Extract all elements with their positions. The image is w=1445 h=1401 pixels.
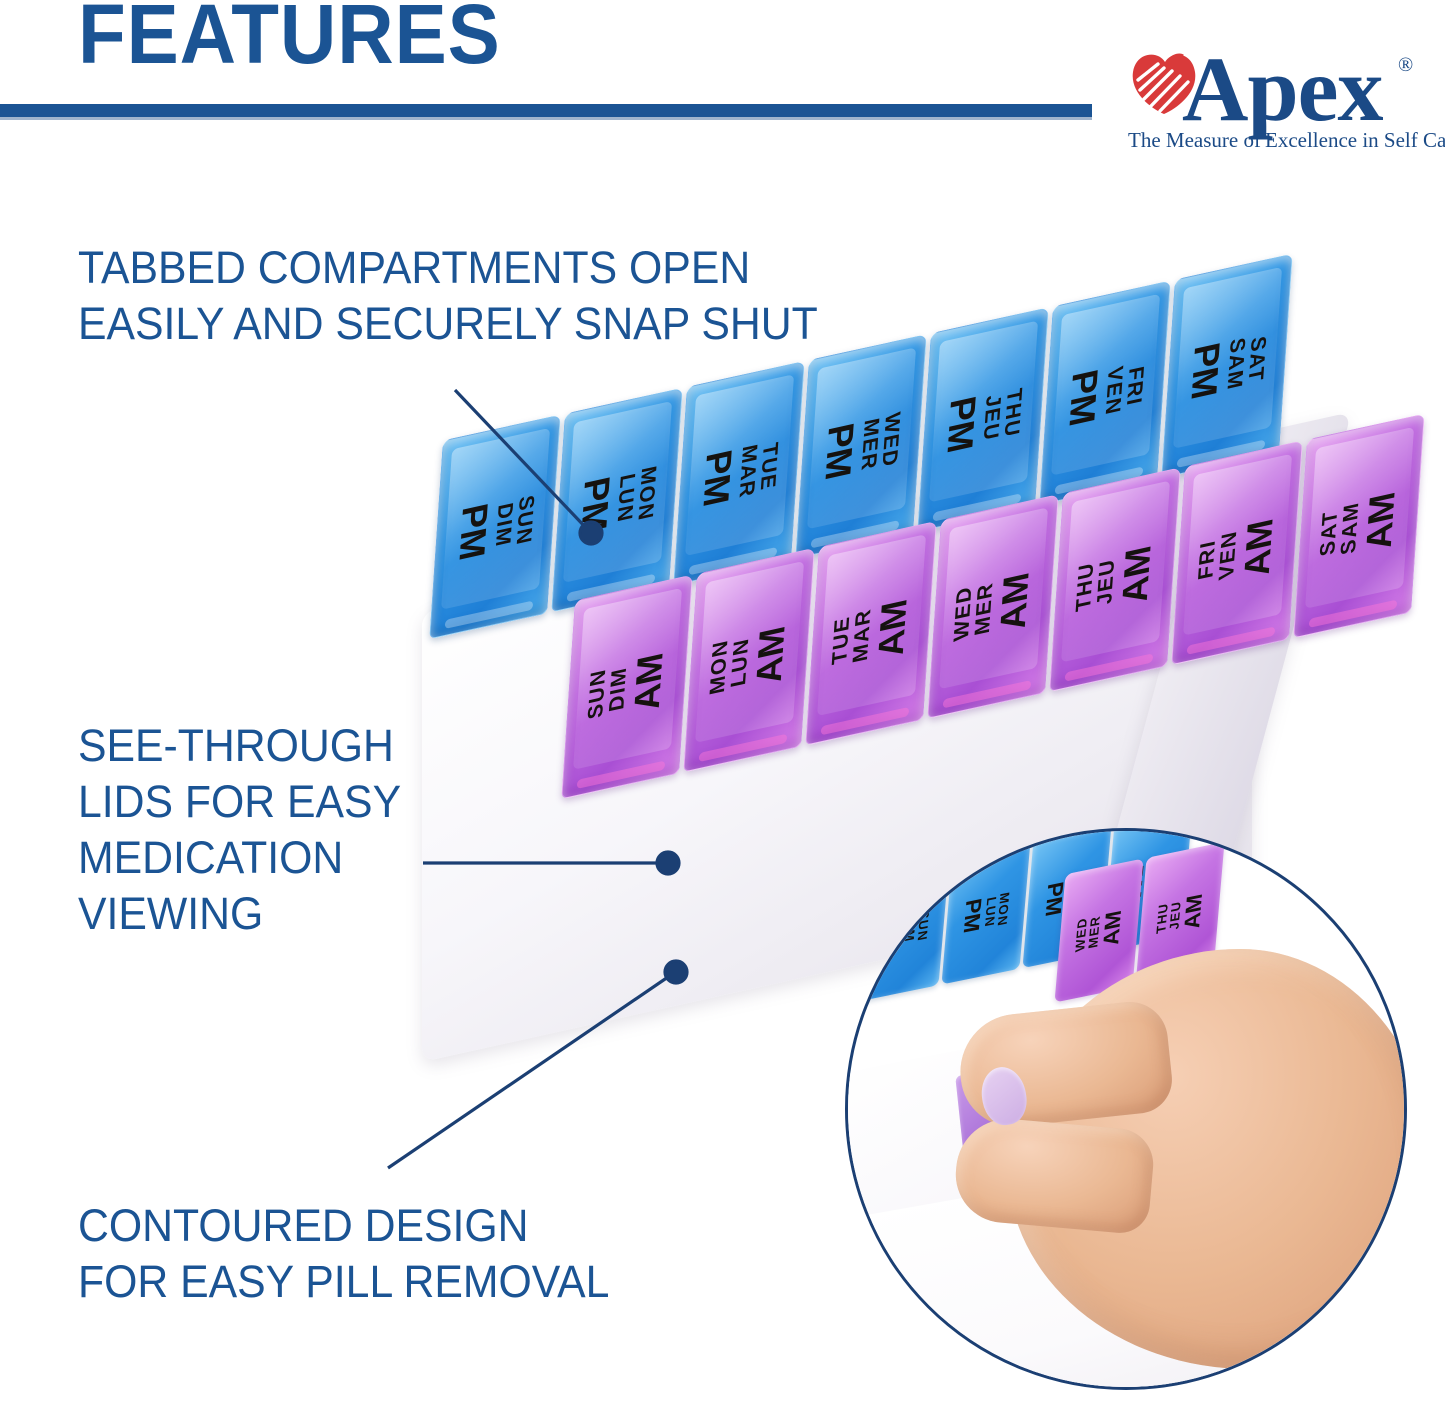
inset-compartment-mon-pm[interactable]: MONLUNPM [941,840,1030,984]
apex-logo: Apex ® The Measure of Excellence in Self… [1124,44,1424,156]
page-title: FEATURES [78,0,501,83]
compartment-fri-am[interactable]: FRIVENAM [1171,440,1303,665]
compartment-thu-am[interactable]: THUJEUAM [1049,467,1181,692]
logo-tagline-right: Excellence in Self Care [1265,128,1445,153]
callout-see-through-lids: SEE-THROUGH LIDS FOR EASY MEDICATION VIE… [78,718,401,942]
compartment-wed-pm[interactable]: WEDMERPM [795,334,927,559]
logo-tagline-left: The Measure of [1128,128,1261,153]
compartment-sat-pm[interactable]: SATSAMPM [1161,253,1293,478]
registered-trademark-icon: ® [1398,54,1413,77]
compartment-mon-pm[interactable]: MONLUNPM [551,388,683,613]
compartment-wed-am[interactable]: WEDMERAM [927,494,1059,719]
feature-infographic: FEATURES Apex ® The Measure of Excellenc… [0,0,1445,1401]
compartment-fri-pm[interactable]: FRIVENPM [1039,280,1171,505]
inset-scene: SUNDIMPM MONLUNPM TUEMARPM WEDMERPM WEDM… [848,831,1407,1390]
compartment-sat-am[interactable]: SATSAMAM [1293,413,1425,638]
compartment-tue-am[interactable]: TUEMARAM [805,521,937,746]
header-divider [0,104,1092,117]
compartment-tue-pm[interactable]: TUEMARPM [673,361,805,586]
header-divider-shadow [0,117,1092,120]
compartment-sun-pm[interactable]: SUNDIMPM [429,414,561,639]
callout-contoured-design: CONTOURED DESIGN FOR EASY PILL REMOVAL [78,1198,609,1310]
inset-photo-pill-removal: SUNDIMPM MONLUNPM TUEMARPM WEDMERPM WEDM… [845,828,1407,1390]
compartment-thu-pm[interactable]: THUJEUPM [917,307,1049,532]
compartment-sun-am[interactable]: SUNDIMAM [561,574,693,799]
logo-wordmark: Apex [1182,36,1382,142]
thumb [952,1115,1156,1236]
inset-compartment-sun-pm[interactable]: SUNDIMPM [860,857,949,1001]
compartment-mon-am[interactable]: MONLUNAM [683,548,815,773]
